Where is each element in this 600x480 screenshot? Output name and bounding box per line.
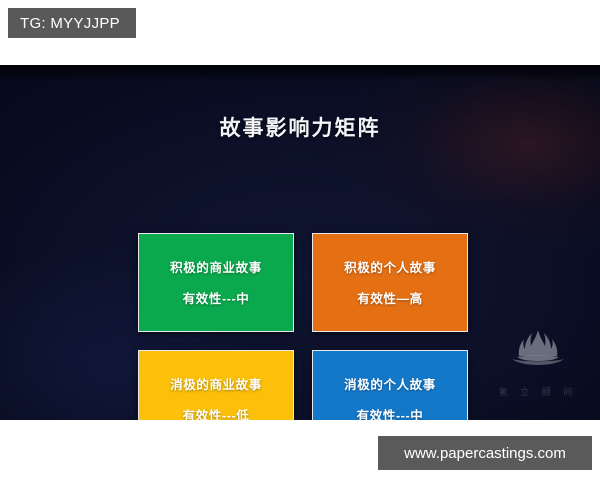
cell-effectiveness: 有效性---低 <box>183 405 250 420</box>
website-url-label: www.papercastings.com <box>404 445 566 462</box>
brand-watermark: 氢 立 顾 问 <box>488 326 588 398</box>
website-url-bar: www.papercastings.com <box>378 436 592 470</box>
tg-channel-label: TG: MYYJJPP <box>20 15 120 32</box>
matrix-cell-negative-business-story: 消极的商业故事 有效性---低 <box>138 350 294 421</box>
cell-effectiveness: 有效性—高 <box>357 288 423 307</box>
flame-logo-icon <box>507 326 569 372</box>
slide-title: 故事影响力矩阵 <box>0 112 600 142</box>
watermark-text: 氢 立 顾 问 <box>488 385 588 398</box>
cell-effectiveness: 有效性---中 <box>183 288 250 307</box>
cell-title: 积极的商业故事 <box>170 257 262 276</box>
cell-title: 消极的个人故事 <box>344 374 436 393</box>
matrix-cell-positive-personal-story: 积极的个人故事 有效性—高 <box>312 233 468 332</box>
matrix-cell-negative-personal-story: 消极的个人故事 有效性---中 <box>312 350 468 421</box>
cell-effectiveness: 有效性---中 <box>357 405 424 420</box>
matrix-cell-positive-business-story: 积极的商业故事 有效性---中 <box>138 233 294 332</box>
cell-title: 消极的商业故事 <box>170 374 262 393</box>
story-impact-matrix: 积极的商业故事 有效性---中 积极的个人故事 有效性—高 消极的商业故事 有效… <box>138 233 468 420</box>
cell-title: 积极的个人故事 <box>344 257 436 276</box>
tg-channel-badge: TG: MYYJJPP <box>8 8 136 38</box>
presentation-slide: 故事影响力矩阵 积极的商业故事 有效性---中 积极的个人故事 有效性—高 消极… <box>0 65 600 420</box>
